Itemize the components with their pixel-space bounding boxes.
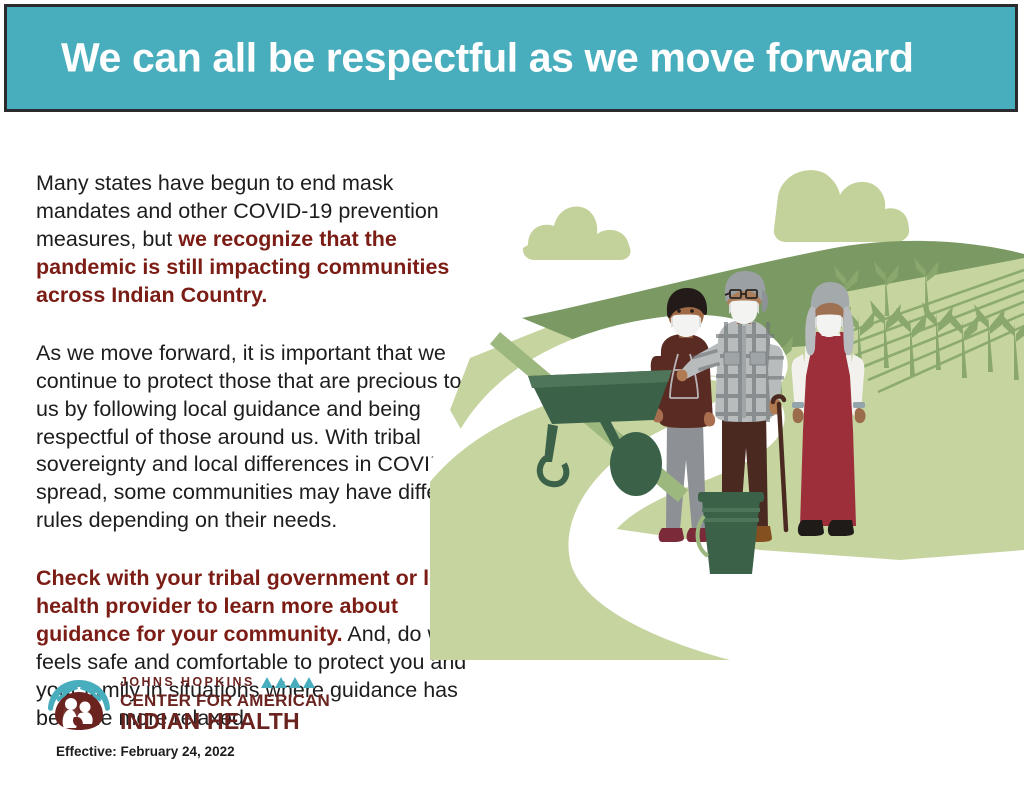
page-title: We can all be respectful as we move forw… — [61, 35, 913, 82]
johns-hopkins-triangles-icon — [261, 676, 317, 689]
cloud-left-icon — [523, 207, 631, 260]
cloud-right-icon — [774, 170, 909, 242]
paragraph-1: Many states have begun to end mask manda… — [36, 170, 484, 310]
logo-center-for-american: CENTER FOR AMERICAN — [120, 692, 330, 709]
logo-indian-health: INDIAN HEALTH — [120, 710, 330, 733]
header-band: We can all be respectful as we move forw… — [4, 4, 1018, 112]
poster: We can all be respectful as we move forw… — [0, 0, 1024, 791]
logo-wordmark: JOHNS HOPKINS CENTER FOR AMERICAN INDIAN… — [120, 676, 330, 733]
footer: JOHNS HOPKINS CENTER FOR AMERICAN INDIAN… — [46, 676, 486, 759]
paragraph-2: As we move forward, it is important that… — [36, 340, 484, 536]
illustration-farm-family — [430, 130, 1024, 660]
body-text-column: Many states have begun to end mask manda… — [36, 170, 484, 733]
bucket-icon — [698, 492, 764, 574]
logo-johns-hopkins: JOHNS HOPKINS — [120, 676, 255, 689]
center-for-american-indian-health-logo-icon — [46, 676, 112, 732]
logo: JOHNS HOPKINS CENTER FOR AMERICAN INDIAN… — [46, 676, 486, 732]
effective-date: Effective: February 24, 2022 — [56, 744, 486, 759]
paragraph-2-plain: As we move forward, it is important that… — [36, 341, 475, 533]
